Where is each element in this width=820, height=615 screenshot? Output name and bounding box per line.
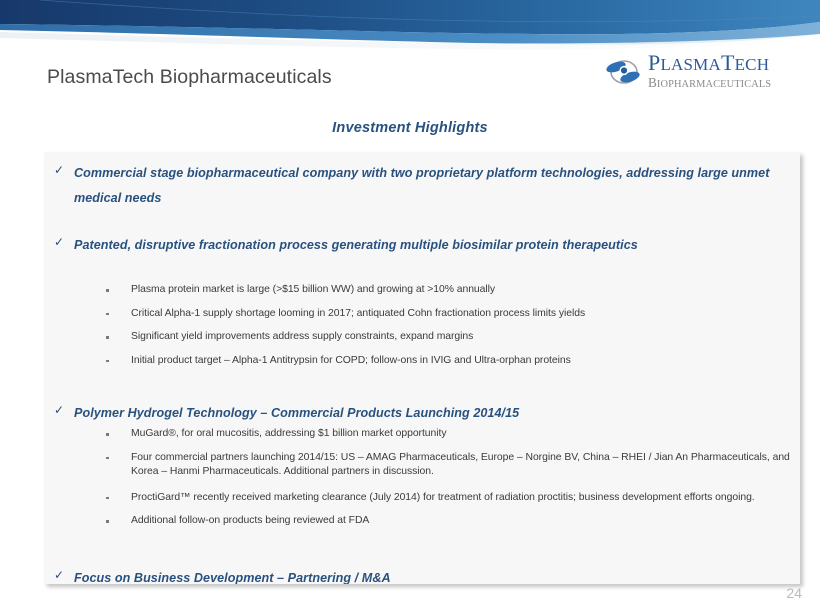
check-icon: ✓ [54,233,74,252]
main-bullet-4: ✓Focus on Business Development – Partner… [54,566,704,584]
sub-bullet: MuGard®, for oral mucositis, addressing … [106,427,800,442]
bullet-dot-icon [106,451,131,460]
check-icon: ✓ [54,161,74,180]
sub-bullet: Significant yield improvements address s… [106,330,791,345]
sub-bullet-text: Plasma protein market is large (>$15 bil… [131,283,791,298]
main-bullet-3: ✓Polymer Hydrogel Technology – Commercia… [54,401,704,426]
company-logo: PLASMATECH BIOPHARMACEUTICALS [604,52,804,92]
page-number: 24 [786,585,802,601]
bullet-dot-icon [106,330,131,339]
sub-bullet: Initial product target – Alpha-1 Antitry… [106,354,791,369]
logo-mark-icon [604,56,644,88]
sub-bullet-text: Significant yield improvements address s… [131,330,791,345]
bullet-dot-icon [106,283,131,292]
section-subtitle: Investment Highlights [0,120,820,136]
main-bullet-text: Commercial stage biopharmaceutical compa… [74,161,774,211]
sub-bullet: Plasma protein market is large (>$15 bil… [106,283,791,298]
main-bullet-2: ✓Patented, disruptive fractionation proc… [54,233,704,258]
sub-bullet: ProctiGard™ recently received marketing … [106,491,800,506]
sub-bullet-text: ProctiGard™ recently received marketing … [131,491,800,506]
sub-bullet-text: Additional follow-on products being revi… [131,514,800,529]
content-panel: ✓Commercial stage biopharmaceutical comp… [44,152,800,584]
bullet-dot-icon [106,307,131,316]
logo-tagline: BIOPHARMACEUTICALS [648,76,804,92]
check-icon: ✓ [54,401,74,420]
main-bullet-text: Focus on Business Development – Partneri… [74,566,694,584]
bullet-dot-icon [106,427,131,436]
sub-bullet-text: MuGard®, for oral mucositis, addressing … [131,427,800,442]
bullet-dot-icon [106,514,131,523]
sub-bullet-text: Four commercial partners launching 2014/… [131,451,800,480]
page-title: PlasmaTech Biopharmaceuticals [47,66,332,89]
logo-wordmark: PLASMATECH [648,52,804,76]
sub-bullet: Four commercial partners launching 2014/… [106,451,800,480]
sub-bullet-text: Initial product target – Alpha-1 Antitry… [131,354,791,369]
bullet-dot-icon [106,354,131,363]
sub-bullet: Critical Alpha-1 supply shortage looming… [106,307,791,322]
bullet-dot-icon [106,491,131,500]
main-bullet-text: Patented, disruptive fractionation proce… [74,233,694,258]
main-bullet-1: ✓Commercial stage biopharmaceutical comp… [54,161,784,211]
sub-bullet: Additional follow-on products being revi… [106,514,800,529]
sub-bullet-text: Critical Alpha-1 supply shortage looming… [131,307,791,322]
check-icon: ✓ [54,566,74,584]
main-bullet-text: Polymer Hydrogel Technology – Commercial… [74,401,694,426]
